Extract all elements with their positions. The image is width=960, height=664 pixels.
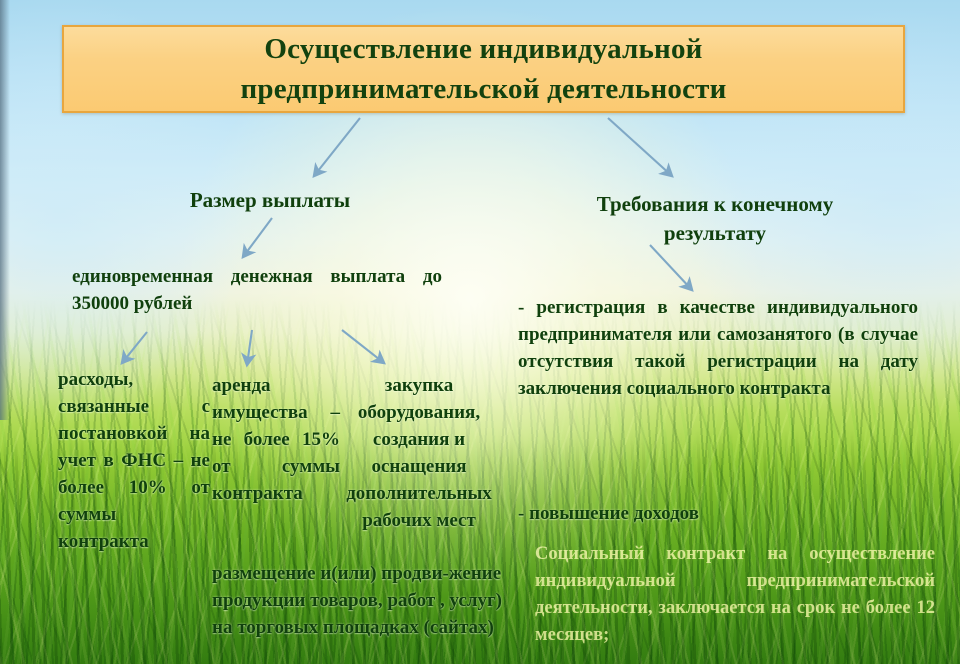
- slide-title-line-1: Осуществление индивидуальной: [264, 29, 702, 69]
- left-branch-heading: Размер выплаты: [120, 186, 420, 215]
- slide-title-box: Осуществление индивидуальной предпринима…: [62, 25, 905, 113]
- left-item-property-rent: аренда имущества – не более 15% от суммы…: [212, 372, 340, 507]
- right-item-registration: - регистрация в качестве индивидуального…: [518, 294, 918, 402]
- right-branch-note: Социальный контракт на осуществление инд…: [535, 541, 935, 649]
- slide-canvas: Осуществление индивидуальной предпринима…: [0, 0, 960, 664]
- right-branch-heading: Требования к конечному результату: [545, 190, 885, 248]
- left-item-equipment-purchase: закупка оборудования, создания и оснащен…: [336, 372, 502, 534]
- left-item-expenses-fns: расходы, связанные с постановкой на учет…: [58, 366, 210, 555]
- right-item-income-increase: - повышение доходов: [518, 500, 918, 527]
- left-branch-lead-text: единовременная денежная выплата до 35000…: [72, 263, 442, 317]
- left-branch-footnote: размещение и(или) продви-жение продукции…: [212, 560, 502, 641]
- slide-title-line-2: предпринимательской деятельности: [240, 69, 726, 109]
- background-left-edge: [0, 0, 10, 420]
